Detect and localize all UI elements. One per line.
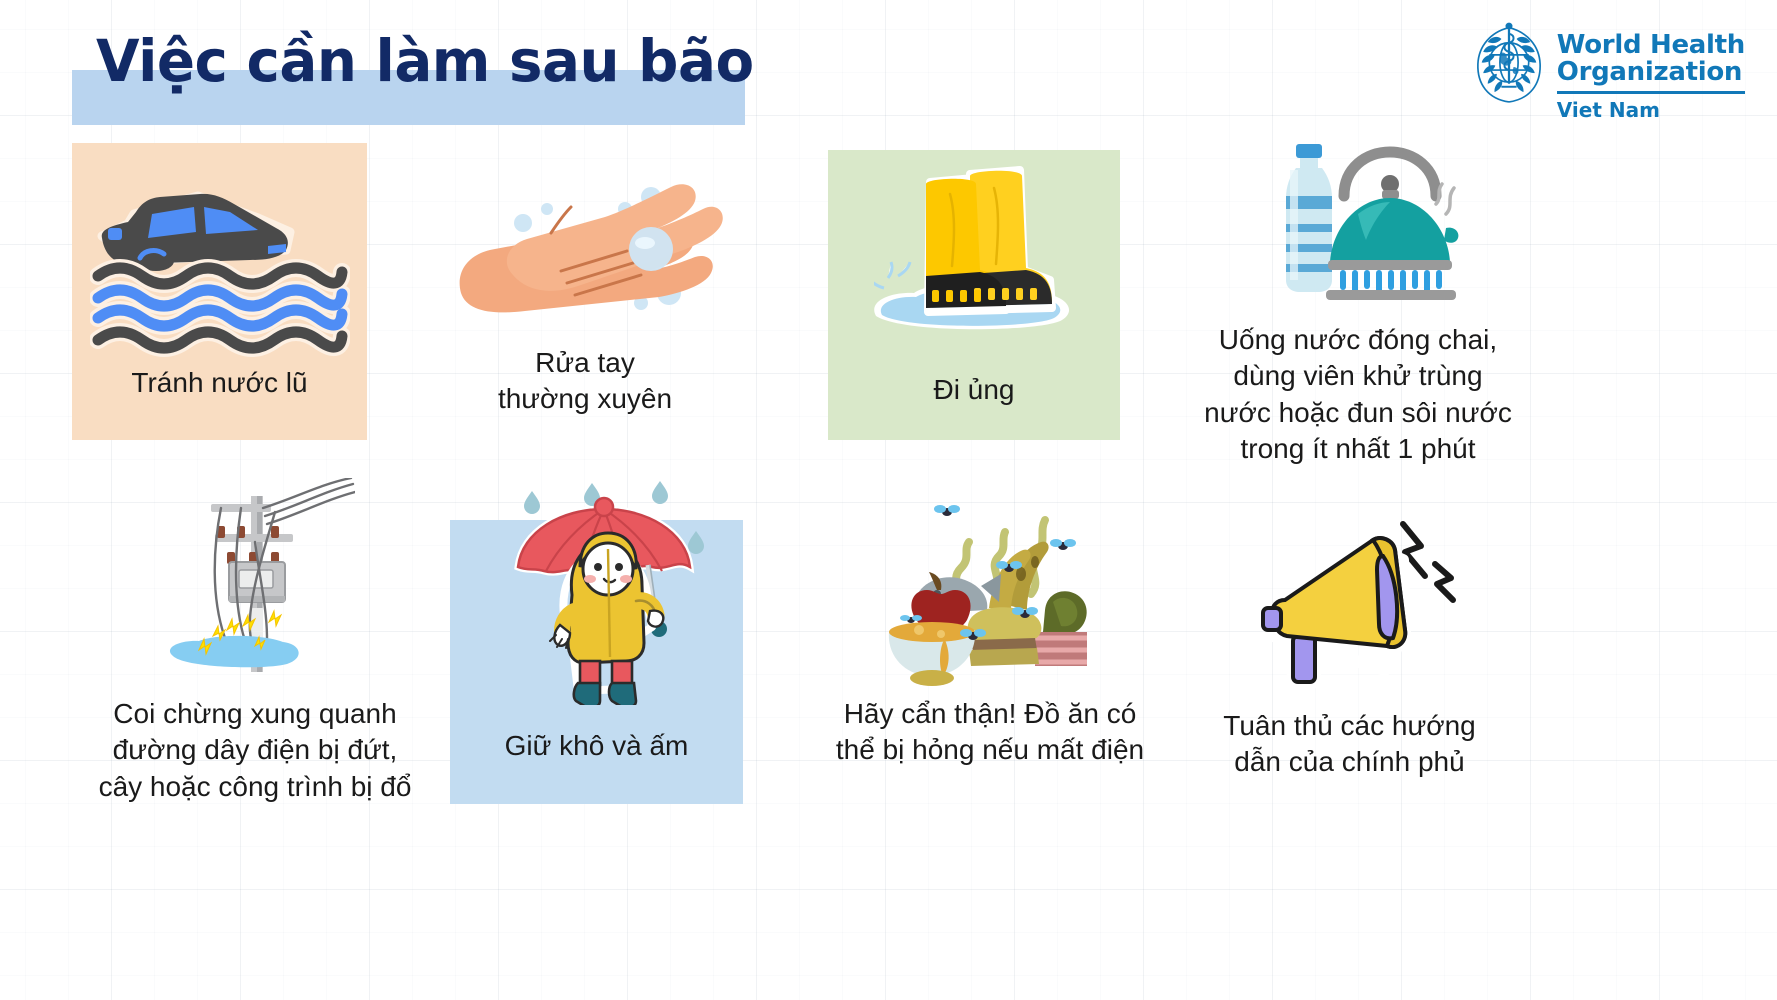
infographic-canvas: Việc cần làm sau bão	[0, 0, 1777, 1000]
card-label: Đi ủng	[828, 372, 1120, 408]
card-label: Rửa tay thường xuyên	[420, 345, 750, 418]
page-title-block: Việc cần làm sau bão	[72, 18, 792, 128]
who-emblem-icon	[1471, 20, 1547, 108]
card-label: Uống nước đóng chai, dùng viên khử trùng…	[1168, 322, 1548, 468]
card-stay-dry: Giữ khô và ấm	[450, 520, 743, 804]
card-label: Giữ khô và ấm	[450, 728, 743, 764]
who-divider	[1557, 91, 1745, 94]
spoiled-food-icon	[885, 498, 1090, 688]
card-downed-lines: Coi chừng xung quanh đường dây điện bị đ…	[60, 478, 450, 818]
washing-hands-icon	[455, 175, 725, 335]
page-title: Việc cần làm sau bão	[96, 32, 754, 90]
rain-boots-icon	[874, 160, 1074, 350]
who-line-1: World Health	[1557, 32, 1745, 59]
who-country-label: Viet Nam	[1557, 98, 1745, 122]
card-follow-guidance: Tuân thủ các hướng dẫn của chính phủ	[1203, 518, 1496, 806]
flooded-car-icon	[90, 188, 350, 358]
card-label: Coi chừng xung quanh đường dây điện bị đ…	[60, 696, 450, 805]
who-logo: World Health Organization Viet Nam	[1471, 20, 1745, 122]
card-label: Tuân thủ các hướng dẫn của chính phủ	[1197, 708, 1502, 781]
card-spoiled-food: Hãy cẩn thận! Đồ ăn có thể bị hỏng nếu m…	[800, 498, 1180, 808]
card-avoid-floodwater: Tránh nước lũ	[72, 143, 367, 440]
who-wordmark: World Health Organization Viet Nam	[1557, 20, 1745, 122]
card-wash-hands: Rửa tay thường xuyên	[420, 165, 750, 455]
megaphone-icon	[1253, 512, 1463, 692]
card-label: Hãy cẩn thận! Đồ ăn có thể bị hỏng nếu m…	[800, 696, 1180, 769]
card-safe-water: Uống nước đóng chai, dùng viên khử trùng…	[1178, 140, 1538, 480]
water-bottle-kettle-icon	[1270, 140, 1460, 315]
card-label: Tránh nước lũ	[72, 365, 367, 401]
child-umbrella-raincoat-icon	[500, 475, 715, 705]
card-wear-boots: Đi ủng	[828, 150, 1120, 440]
who-line-2: Organization	[1557, 59, 1745, 86]
downed-power-line-icon	[155, 478, 355, 688]
